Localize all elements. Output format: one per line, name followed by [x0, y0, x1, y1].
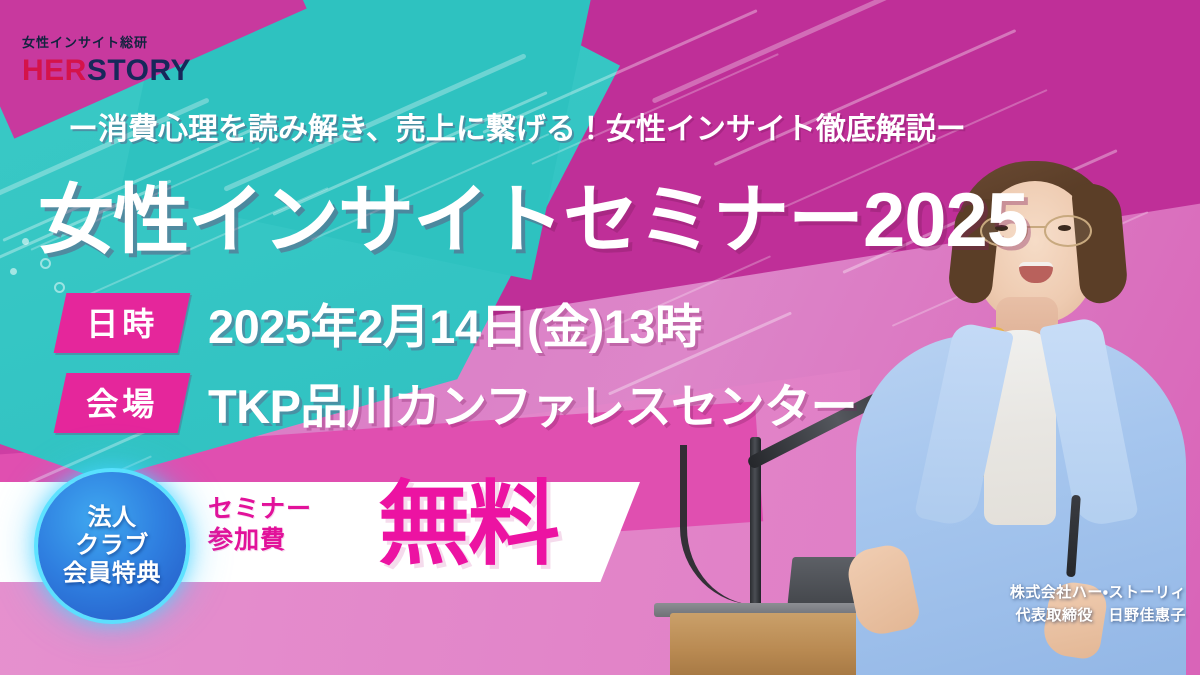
seminar-subtitle: ー消費心理を読み解き、売上に繋げる！女性インサイト徹底解説ー	[68, 104, 966, 148]
venue-value: TKP品川カンファレスセンター	[208, 368, 857, 437]
logo-tagline: 女性インサイト総研	[22, 36, 191, 49]
date-label: 日時	[86, 299, 158, 345]
member-benefit-badge: 法人 クラブ 会員特典	[38, 472, 186, 620]
fee-label: セミナー 参加費	[208, 494, 312, 555]
logo-wordmark: HERSTORY	[22, 56, 191, 86]
member-badge-line2: クラブ	[63, 532, 161, 560]
member-badge-line1: 法人	[63, 504, 161, 532]
seminar-title: 女性インサイトセミナー2025	[38, 158, 1028, 268]
venue-row: 会場 TKP品川カンファレスセンター	[60, 368, 857, 437]
logo-story: STORY	[87, 54, 191, 87]
speaker-eye-right	[1058, 225, 1071, 231]
date-row: 日時 2025年2月14日(金)13時	[60, 288, 702, 357]
member-badge-line3: 会員特典	[63, 560, 161, 588]
date-value: 2025年2月14日(金)13時	[208, 288, 702, 357]
credit-company: 株式会社ハー・ストーリィ	[1010, 582, 1186, 605]
member-badge-text: 法人 クラブ 会員特典	[63, 504, 161, 589]
fee-value: 無料	[378, 470, 558, 580]
fee-label-line1: セミナー	[208, 494, 312, 525]
speaker-credit: 株式会社ハー・ストーリィ 代表取締役 日野佳惠子	[1010, 582, 1186, 627]
credit-title-name: 代表取締役 日野佳惠子	[1010, 605, 1186, 628]
venue-label: 会場	[86, 379, 158, 425]
date-label-badge: 日時	[54, 293, 191, 353]
venue-label-badge: 会場	[54, 373, 191, 433]
fee-label-line2: 参加費	[208, 525, 312, 556]
seminar-promo-banner: 女性インサイト総研 HERSTORY ー消費心理を読み解き、売上に繋げる！女性イ…	[0, 0, 1200, 675]
microphone-cable	[680, 445, 757, 605]
herstory-logo: 女性インサイト総研 HERSTORY	[22, 36, 191, 86]
logo-her: HER	[22, 54, 87, 87]
